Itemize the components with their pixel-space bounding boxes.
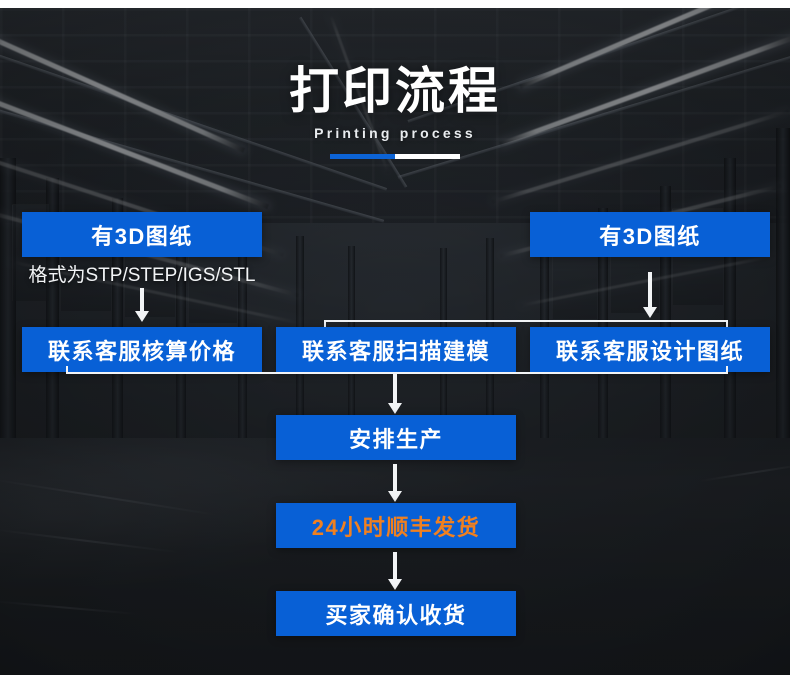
format-note: 格式为STP/STEP/IGS/STL: [22, 260, 262, 287]
arrow-down-confirm: [388, 552, 402, 590]
divider-segment-blue: [330, 154, 395, 159]
flow-node-confirm[interactable]: 买家确认收货: [276, 591, 516, 636]
arrow-down-production: [388, 374, 402, 414]
flow-node-top-left[interactable]: 有3D图纸: [22, 212, 262, 257]
flow-node-mid-center[interactable]: 联系客服扫描建模: [276, 327, 516, 372]
divider-segment-white: [395, 154, 460, 159]
arrow-down-right: [643, 272, 657, 320]
flow-node-production[interactable]: 安排生产: [276, 415, 516, 460]
title-divider: [330, 154, 460, 159]
page-subtitle: Printing process: [0, 124, 790, 142]
flow-node-mid-left[interactable]: 联系客服核算价格: [22, 327, 262, 372]
bracket-bottom-left-stub: [66, 366, 68, 374]
flow-node-top-right[interactable]: 有3D图纸: [530, 212, 770, 257]
promo-banner: 打印流程 Printing process 有3D图纸 有3D图纸 格式为STP…: [0, 0, 790, 696]
bracket-top-horizontal: [324, 320, 728, 322]
bracket-bottom-right-stub: [726, 366, 728, 374]
arrow-down-shipping: [388, 464, 402, 502]
flow-node-shipping[interactable]: 24小时顺丰发货: [276, 503, 516, 548]
arrow-down-left: [135, 288, 149, 322]
page-title: 打印流程: [0, 60, 790, 122]
flow-node-mid-right[interactable]: 联系客服设计图纸: [530, 327, 770, 372]
